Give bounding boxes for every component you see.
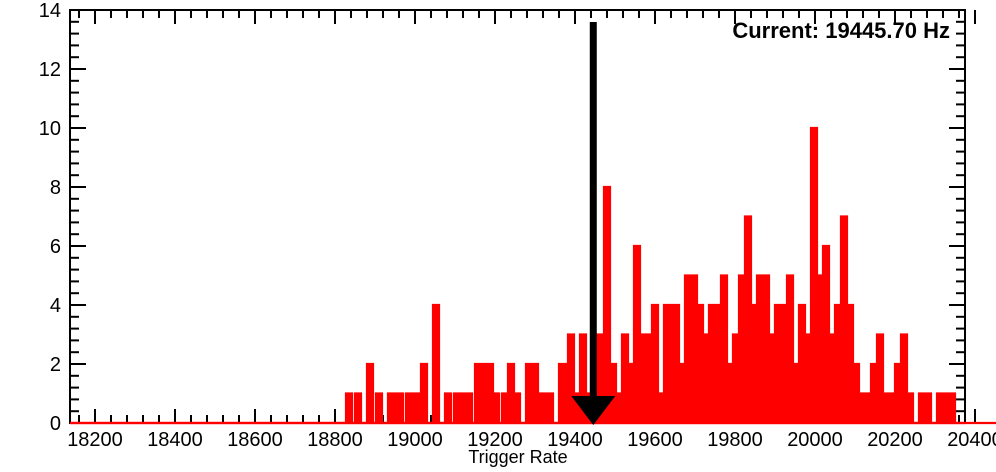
y-tick-label: 0	[50, 413, 61, 435]
y-tick-label: 2	[50, 354, 61, 376]
x-tick-label: 20400	[947, 429, 996, 451]
x-tick-label: 19000	[387, 429, 443, 451]
y-tick-label: 6	[50, 236, 61, 258]
y-tick-label: 14	[39, 0, 61, 22]
x-axis-title: Trigger Rate	[468, 447, 567, 467]
x-tick-label: 18200	[67, 429, 123, 451]
current-value-annotation: Current: 19445.70 Hz	[732, 18, 950, 43]
y-tick-label: 12	[39, 59, 61, 81]
x-tick-label: 19800	[707, 429, 763, 451]
x-tick-label: 18400	[147, 429, 203, 451]
y-tick-label: 8	[50, 177, 61, 199]
x-tick-label: 20200	[867, 429, 923, 451]
y-tick-label: 10	[39, 118, 61, 140]
x-tick-label: 18800	[307, 429, 363, 451]
x-tick-label: 18600	[227, 429, 283, 451]
x-tick-label: 20000	[787, 429, 843, 451]
x-tick-label: 19600	[627, 429, 683, 451]
root-canvas: 02468101214 1820018400186001880019000192…	[0, 0, 996, 472]
histogram-plot: 02468101214 1820018400186001880019000192…	[0, 0, 996, 472]
y-tick-label: 4	[50, 295, 61, 317]
